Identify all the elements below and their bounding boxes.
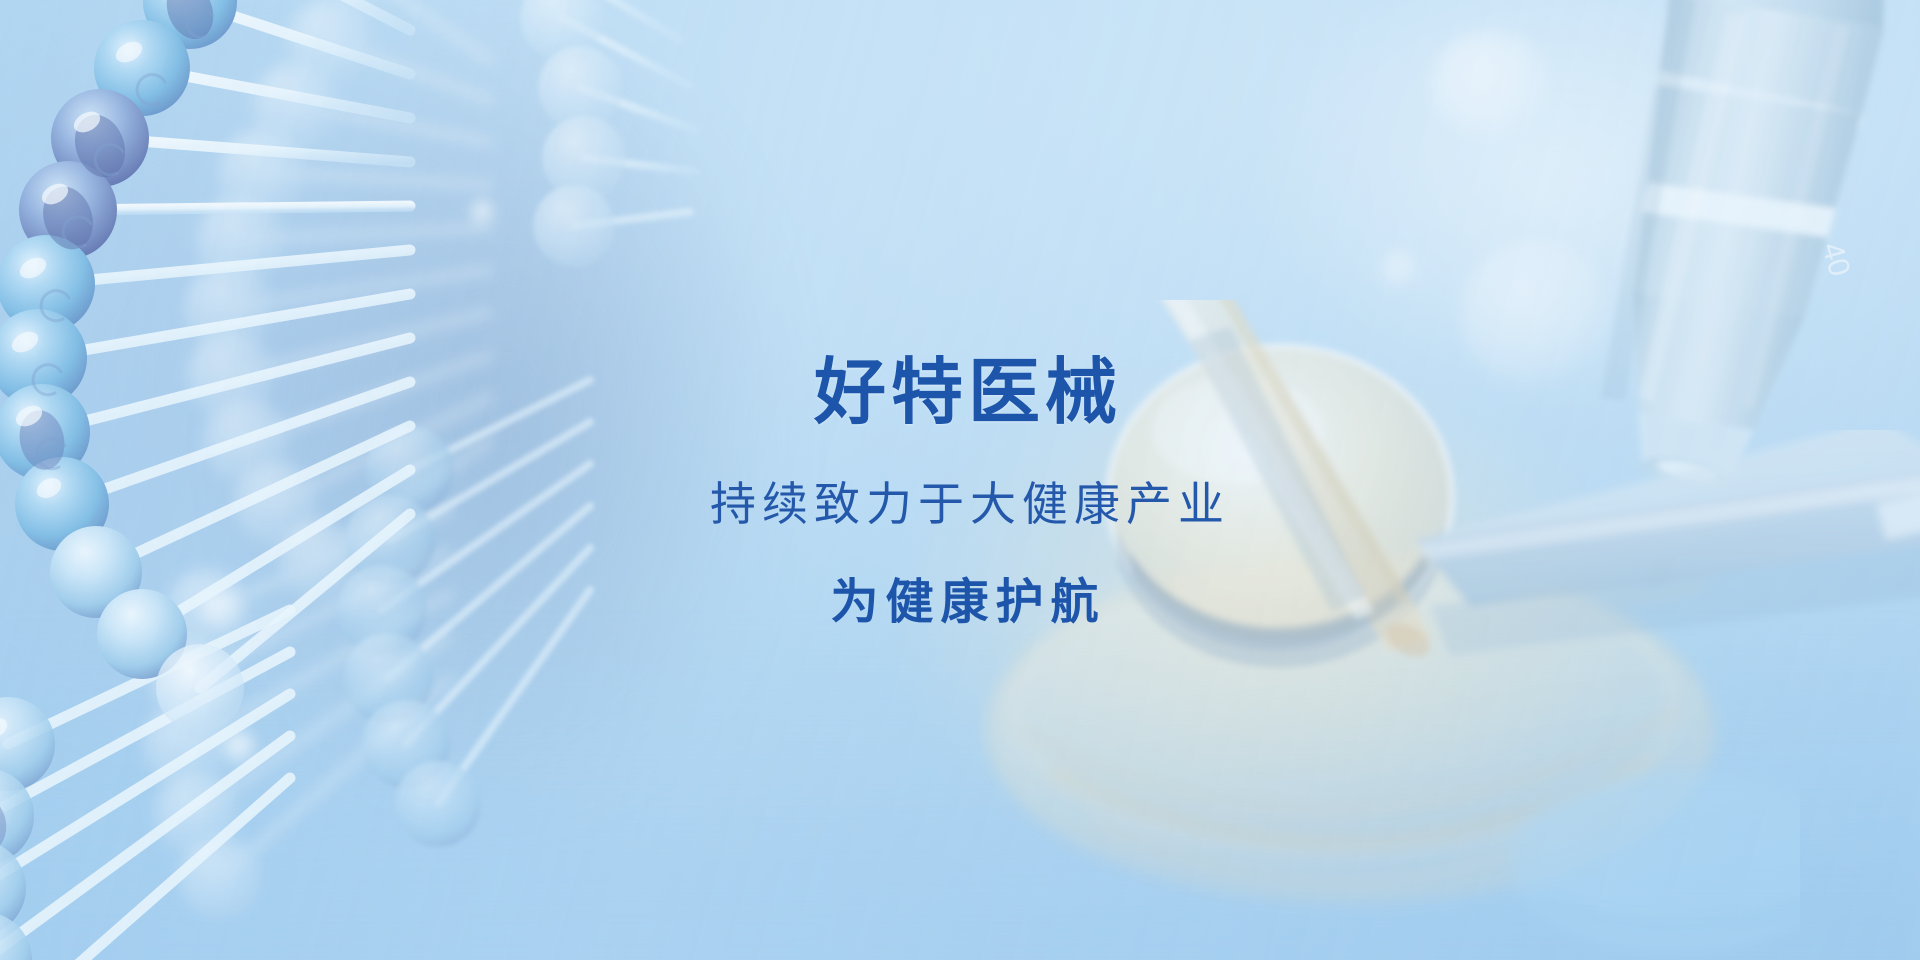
hero-text-block: 好特医械 持续致力于大健康产业 为健康护航: [0, 355, 1920, 630]
page-slogan: 为健康护航: [8, 529, 1920, 630]
page-title: 好特医械: [8, 355, 1920, 433]
hero-banner: 40: [0, 0, 1920, 960]
page-subtitle: 持续致力于大健康产业: [10, 433, 1920, 530]
